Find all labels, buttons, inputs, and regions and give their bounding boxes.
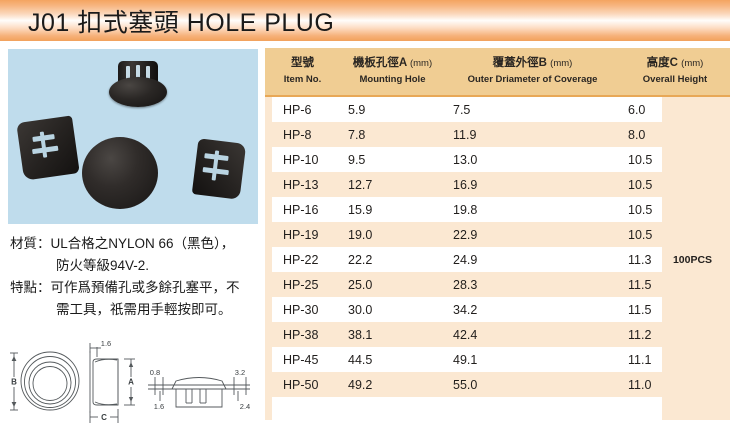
cell-outer: 22.9	[445, 228, 620, 242]
cell-item-no: HP-8	[265, 128, 340, 142]
table-body: HP-65.97.56.0HP-87.811.98.0HP-109.513.01…	[265, 97, 730, 422]
technical-drawings: B B	[0, 331, 265, 430]
detail-label-bottom-left: 1.6	[154, 402, 164, 411]
cell-outer: 55.0	[445, 378, 620, 392]
cell-item-no: HP-45	[265, 353, 340, 367]
table-header-row: 型號 Item No. 機板孔徑A (mm) Mounting Hole 覆蓋外…	[265, 48, 730, 97]
side-view-label-right: A	[128, 378, 134, 387]
front-view-drawing	[10, 352, 79, 410]
cell-item-no: HP-22	[265, 253, 340, 267]
cell-hole: 30.0	[340, 303, 445, 317]
feature-line-2: 需工具，祇需用手輕按即可。	[10, 299, 262, 321]
left-column: 材質：UL合格之NYLON 66（黑色）， 防火等級94V-2. 特點：可作爲預…	[0, 41, 265, 430]
cell-hole: 7.8	[340, 128, 445, 142]
specification-table: 型號 Item No. 機板孔徑A (mm) Mounting Hole 覆蓋外…	[265, 48, 730, 420]
drawings-svg: B B	[0, 331, 265, 430]
material-line: 材質：UL合格之NYLON 66（黑色），	[10, 233, 262, 255]
detail-label-top-right: 3.2	[235, 368, 245, 377]
cell-hole: 22.2	[340, 253, 445, 267]
material-label: 材質：	[10, 236, 51, 251]
detail-label-bottom-right: 2.4	[240, 402, 250, 411]
column-header-cn: 覆蓋外徑B (mm)	[445, 56, 620, 72]
cell-item-no: HP-25	[265, 278, 340, 292]
cell-outer: 16.9	[445, 178, 620, 192]
cell-hole: 49.2	[340, 378, 445, 392]
plug-left	[16, 115, 80, 180]
cell-hole: 5.9	[340, 103, 445, 117]
column-header-item-no: 型號 Item No.	[265, 56, 340, 87]
detail-label-top-left: 0.8	[150, 368, 160, 377]
cell-hole: 44.5	[340, 353, 445, 367]
cell-hole: 25.0	[340, 278, 445, 292]
cell-item-no: HP-10	[265, 153, 340, 167]
column-header-cn: 高度C (mm)	[620, 56, 730, 72]
cell-outer: 7.5	[445, 103, 620, 117]
cell-outer: 28.3	[445, 278, 620, 292]
plug-top-cap	[109, 77, 167, 107]
column-header-en: Item No.	[265, 74, 340, 87]
material-line-2: 防火等級94V-2.	[10, 255, 262, 277]
cell-outer: 42.4	[445, 328, 620, 342]
feature-line: 特點：可作爲預備孔或多餘孔塞平，不	[10, 277, 262, 299]
cell-hole: 12.7	[340, 178, 445, 192]
feature-label: 特點：	[10, 280, 51, 295]
cell-item-no: HP-19	[265, 228, 340, 242]
cell-hole: 19.0	[340, 228, 445, 242]
side-view-label-bottom: C	[101, 413, 107, 422]
packing-value: 100PCS	[655, 97, 730, 422]
column-header-en: Mounting Hole	[340, 74, 445, 87]
column-header-mounting-hole: 機板孔徑A (mm) Mounting Hole	[340, 56, 445, 87]
row-stripe	[272, 397, 662, 422]
cell-outer: 24.9	[445, 253, 620, 267]
side-view-label-top: 1.6	[101, 339, 111, 348]
front-view-label-b-text: B	[11, 378, 17, 387]
cell-outer: 11.9	[445, 128, 620, 142]
material-value: UL合格之NYLON 66（黑色），	[51, 236, 235, 251]
cell-hole: 38.1	[340, 328, 445, 342]
cell-item-no: HP-50	[265, 378, 340, 392]
page-title-banner: J01 扣式塞頭 HOLE PLUG	[0, 0, 730, 41]
column-header-cn: 型號	[265, 56, 340, 72]
cell-item-no: HP-13	[265, 178, 340, 192]
product-photo	[8, 49, 258, 224]
cell-hole: 15.9	[340, 203, 445, 217]
cell-item-no: HP-38	[265, 328, 340, 342]
cell-outer: 19.8	[445, 203, 620, 217]
cell-item-no: HP-16	[265, 203, 340, 217]
column-header-en: Outer Driameter of Coverage	[445, 74, 620, 87]
cell-outer: 34.2	[445, 303, 620, 317]
specification-text: 材質：UL合格之NYLON 66（黑色）， 防火等級94V-2. 特點：可作爲預…	[10, 233, 262, 321]
cell-outer: 49.1	[445, 353, 620, 367]
cell-item-no: HP-30	[265, 303, 340, 317]
cell-hole: 9.5	[340, 153, 445, 167]
plug-right	[192, 138, 246, 199]
column-header-overall-height: 高度C (mm) Overall Height	[620, 56, 730, 87]
page-title: J01 扣式塞頭 HOLE PLUG	[0, 3, 334, 39]
cell-outer: 13.0	[445, 153, 620, 167]
feature-value: 可作爲預備孔或多餘孔塞平，不	[51, 280, 240, 295]
column-header-outer-diameter: 覆蓋外徑B (mm) Outer Driameter of Coverage	[445, 56, 620, 87]
plug-center-cap	[82, 137, 158, 209]
cell-item-no: HP-6	[265, 103, 340, 117]
column-header-cn: 機板孔徑A (mm)	[340, 56, 445, 72]
column-header-en: Overall Height	[620, 74, 730, 87]
